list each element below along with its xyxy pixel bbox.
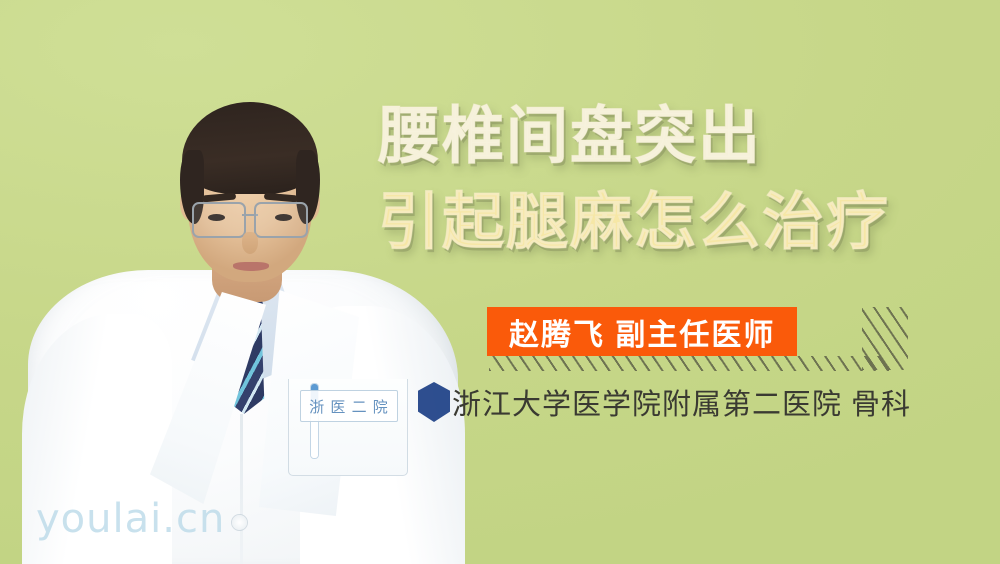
coat-name-badge-text: 浙 医 二 院 xyxy=(309,396,389,417)
headline-block: 腰椎间盘突出 引起腿麻怎么治疗 xyxy=(378,96,978,264)
headline-line-2: 引起腿麻怎么治疗 xyxy=(378,182,978,264)
coat-name-badge: 浙 医 二 院 xyxy=(300,390,398,422)
hospital-department-label: 浙江大学医学院附属第二医院 骨科 xyxy=(452,381,911,423)
doctor-name-banner: 赵腾飞 副主任医师 xyxy=(487,307,797,356)
doctor-portrait: 浙 医 二 院 youlai.cn xyxy=(0,0,470,564)
headline-line-1: 腰椎间盘突出 xyxy=(378,96,978,178)
eyeglass-lens-left xyxy=(192,202,246,238)
coat-button xyxy=(232,515,247,530)
hatch-stripes-bottom xyxy=(489,356,889,371)
mouth xyxy=(233,262,269,271)
doctor-name-rank: 赵腾飞 副主任医师 xyxy=(509,310,775,354)
site-watermark: youlai.cn xyxy=(36,496,225,542)
eyeglasses-icon xyxy=(190,202,310,236)
video-thumbnail: 浙 医 二 院 youlai.cn 腰椎间盘突出 引起腿麻怎么 xyxy=(0,0,1000,564)
coat-placket xyxy=(240,414,243,564)
eyeglass-lens-right xyxy=(254,202,308,238)
doctor-head xyxy=(176,102,324,288)
nose xyxy=(242,232,258,254)
